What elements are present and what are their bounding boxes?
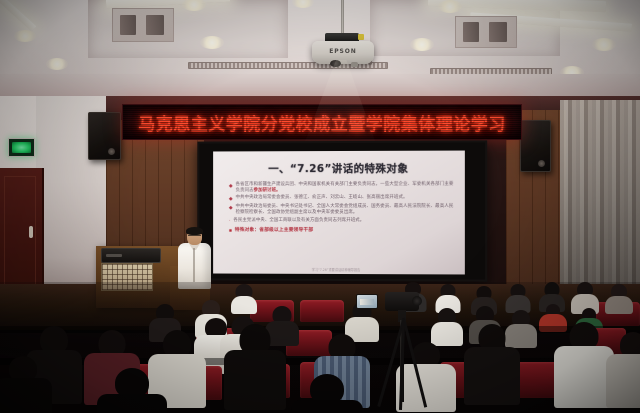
downlight-4	[200, 36, 224, 49]
presenter-glasses	[188, 235, 201, 238]
audience-member	[608, 332, 640, 404]
audience-member	[436, 284, 460, 310]
audience-member	[606, 284, 632, 312]
running-man-glyph	[12, 142, 31, 153]
slide-footer-center: 学习“7.26”重要讲话精神辅导报告	[312, 267, 361, 272]
bullet-marker-icon: ◆	[229, 195, 233, 202]
audience-member	[226, 324, 284, 404]
led-banner-text: 马克思主义学院分党校成立暨学院集体理论学习	[138, 110, 506, 135]
exit-sign-icon	[8, 138, 35, 157]
slide-bullet-list: ◆ 各省区市和新疆生产建设兵团、中央和国家机关有关部门主要负责同志，一些大型企业…	[223, 182, 455, 235]
camera-lcd-screen	[356, 294, 378, 309]
downlight-9	[292, 0, 314, 8]
projector-lens	[330, 60, 341, 67]
audience-member	[556, 322, 612, 404]
ac-vent-left	[112, 8, 174, 42]
wall-speaker-right	[520, 120, 551, 172]
lecture-hall-scene: 马克思主义学院分党校成立暨学院集体理论学习 EPSON 一、“7.26”讲话的特…	[0, 0, 640, 413]
slide-title: 一、“7.26”讲话的特殊对象	[223, 161, 455, 177]
bullet-text: 各民主党派中央、全国工商联以及有关方面负责同志列席开班式。	[233, 217, 364, 223]
bullet-marker-icon: ·	[229, 217, 231, 224]
audience-member	[432, 308, 462, 342]
audio-amplifier	[101, 248, 161, 263]
downlight-1	[14, 30, 36, 42]
bullet-text: 特殊对象：省部级以上主要领导干部	[235, 228, 313, 235]
bullet-text: 各省区市和新疆生产建设兵团、中央和国家机关有关部门主要负责同志，一些大型企业、军…	[236, 182, 455, 194]
bullet-marker-icon: ◆	[229, 204, 233, 211]
presenter-placket	[193, 248, 195, 282]
audience-member	[232, 284, 256, 310]
seat[interactable]	[300, 300, 344, 322]
projection-screen: 一、“7.26”讲话的特殊对象 ◆ 各省区市和新疆生产建设兵团、中央和国家机关有…	[197, 140, 487, 281]
bullet-marker-icon: ◆	[229, 182, 233, 189]
projector-mount-rod	[341, 0, 344, 36]
video-camera-tripod	[372, 292, 432, 410]
ac-vent-right	[455, 16, 517, 48]
slide-bullet-item: ◆ 中共中央政治局常委会委员、张德江、俞正声、刘云山、王岐山、张高丽出席开班式。	[229, 195, 455, 202]
bullet-text: 中共中央政治局常委会委员、张德江、俞正声、刘云山、王岐山、张高丽出席开班式。	[236, 195, 408, 201]
bullet-text: 中共中央政治局委员、中央书记处书记、全国人大常委会党组成员、国务委员、最高人民法…	[236, 204, 455, 216]
downlight-7	[592, 38, 616, 51]
slide-bullet-item: · 各民主党派中央、全国工商联以及有关方面负责同志列席开班式。	[229, 217, 455, 224]
projector: EPSON	[312, 41, 374, 64]
audience-member-foreground	[100, 368, 164, 413]
door-handle[interactable]	[29, 226, 33, 238]
audience-area	[0, 282, 640, 413]
tripod-leg	[402, 318, 427, 408]
slide-footer: 学习“7.26”重要讲话精神辅导报告	[223, 267, 451, 273]
slide-surface: 一、“7.26”讲话的特殊对象 ◆ 各省区市和新疆生产建设兵团、中央和国家机关有…	[213, 151, 465, 275]
downlight-5	[438, 0, 462, 13]
camera-lens	[412, 296, 422, 306]
bullet-marker-icon: ■	[229, 228, 232, 235]
ceiling-troffer-4	[0, 0, 36, 31]
downlight-6	[410, 38, 434, 51]
slide-bullet-item: ◆ 各省区市和新疆生产建设兵团、中央和国家机关有关部门主要负责同志，一些大型企业…	[229, 182, 455, 194]
audience-member	[0, 356, 50, 413]
led-banner: 马克思主义学院分党校成立暨学院集体理论学习	[122, 104, 522, 140]
slide-bullet-item: ◆ 中共中央政治局委员、中央书记处书记、全国人大常委会党组成员、国务委员、最高人…	[229, 204, 455, 216]
downlight-2	[46, 58, 68, 70]
audience-member	[506, 284, 530, 310]
wall-speaker-left	[88, 112, 121, 160]
audience-member-foreground	[294, 374, 360, 413]
projector-foot	[351, 62, 358, 67]
slide-bullet-item-highlight: ■ 特殊对象：省部级以上主要领导干部	[229, 228, 455, 236]
projector-brand-label: EPSON	[312, 48, 374, 55]
audience-member	[466, 324, 518, 402]
